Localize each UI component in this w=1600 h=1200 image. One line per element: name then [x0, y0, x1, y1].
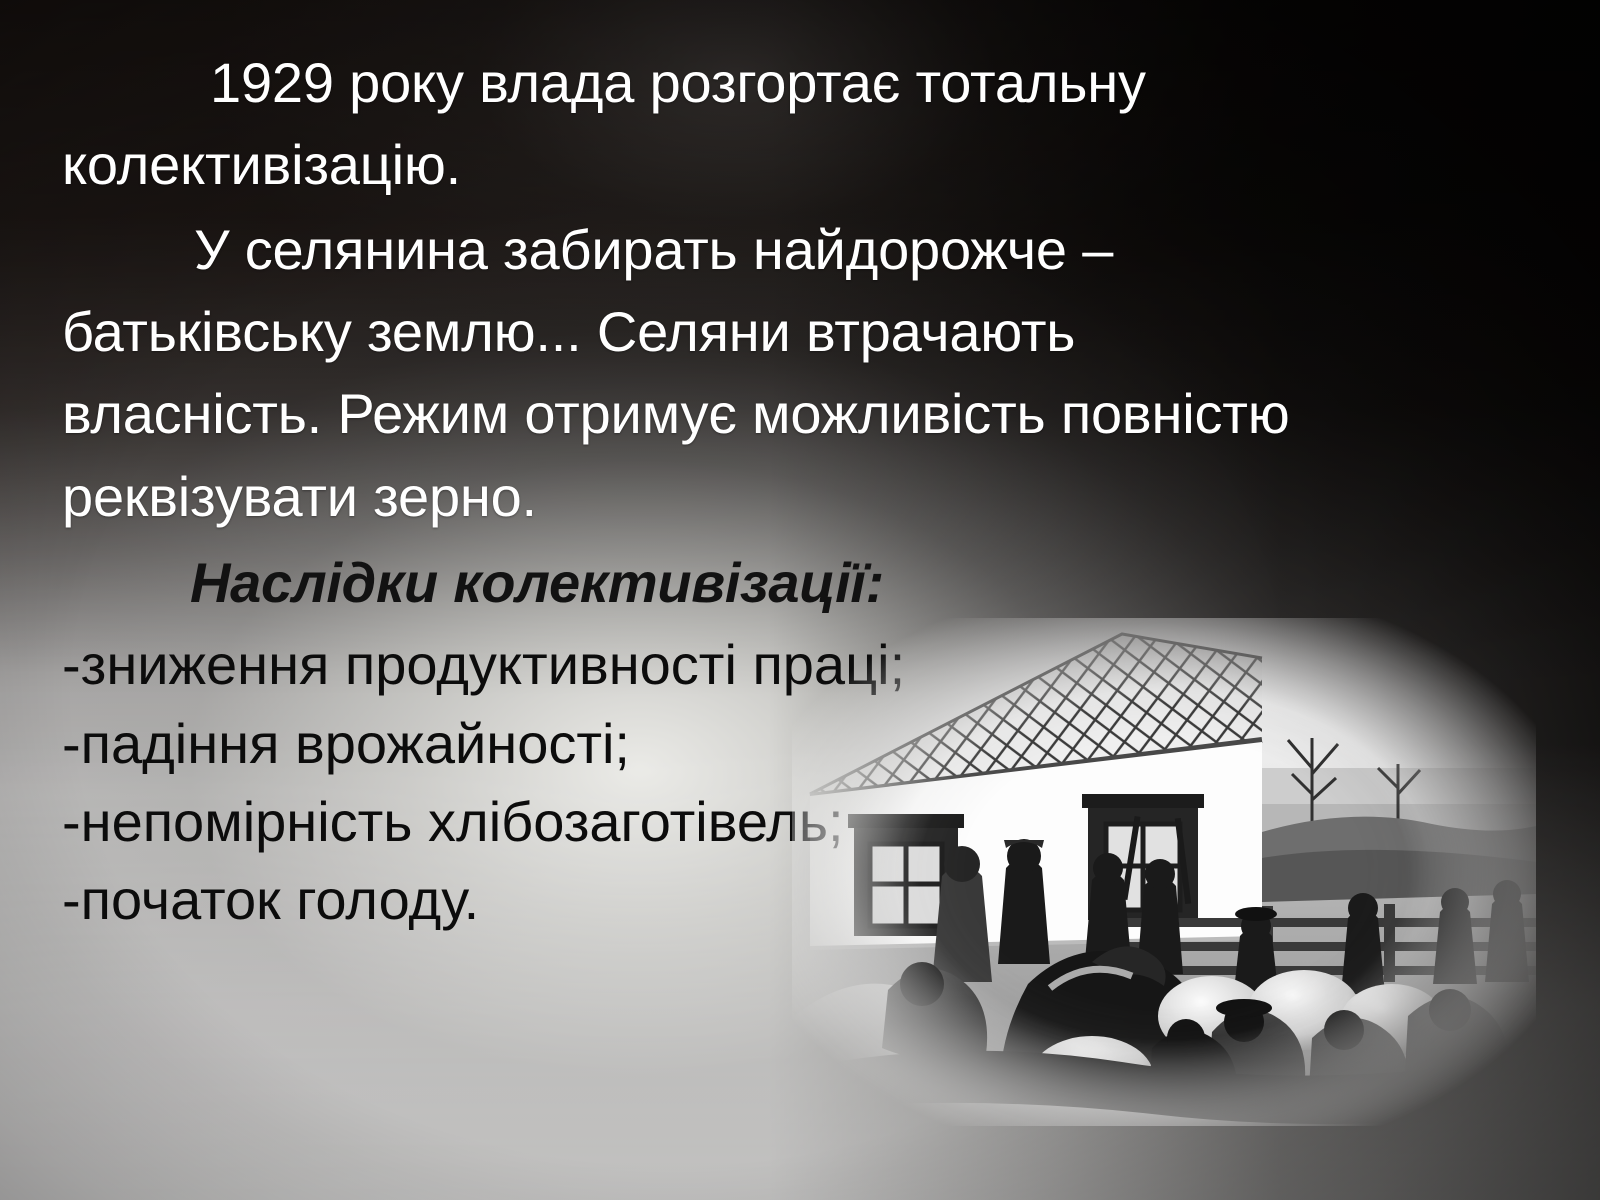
- historical-photo-image: [792, 618, 1536, 1126]
- paragraph-peasant-land-loss: У селянина забирать найдорожче – батьків…: [62, 209, 1292, 538]
- paragraph-collectivization-1929: 1929 року влада розгортає тотальну колек…: [62, 42, 1292, 207]
- presentation-slide: 1929 року влада розгортає тотальну колек…: [0, 0, 1600, 1200]
- historical-photo: [792, 618, 1536, 1126]
- heading-consequences: Наслідки колективізації:: [62, 544, 1292, 622]
